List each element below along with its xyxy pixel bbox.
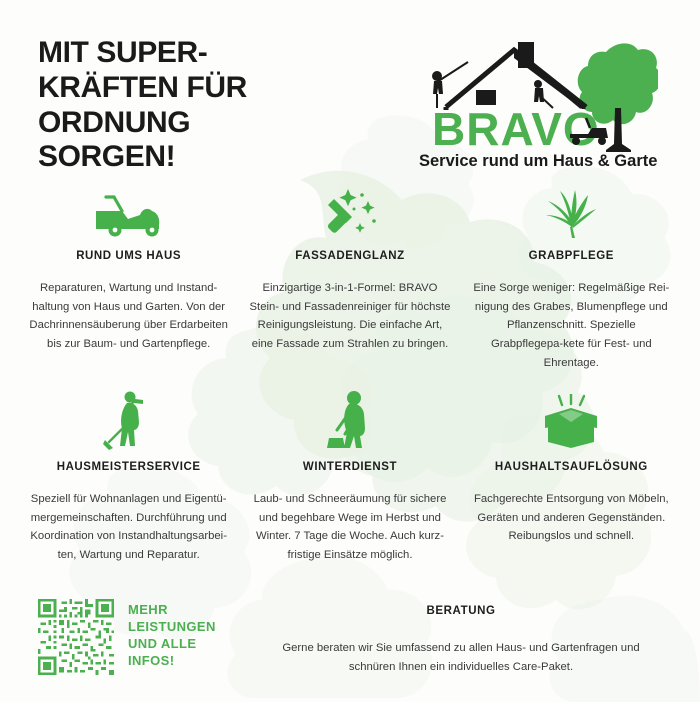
service-body: Speziell für Wohnanlagen und Eigentü-mer… (28, 490, 229, 565)
beratung-title: BERATUNG (268, 605, 654, 617)
service-card-fassadenglanz: FASSADENGLANZ Einzigartige 3-in-1-Formel… (239, 183, 460, 372)
service-title: HAUSMEISTERSERVICE (57, 461, 201, 473)
squeegee-sparkle-icon (318, 183, 382, 239)
service-title: RUND UMS HAUS (76, 250, 181, 262)
service-body: Eine Sorge weniger: Regelmäßige Rei-nigu… (471, 279, 672, 372)
flyer-page: MIT SUPER- KRÄFTEN FÜR ORDNUNG SORGEN! (0, 0, 700, 702)
palm-leaf-icon (542, 183, 600, 239)
service-title: GRABPFLEGE (529, 250, 614, 262)
bravo-logo: BRAVO Service rund um Haus & Garten (410, 32, 658, 170)
qr-label: MEHR LEISTUNGEN UND ALLE INFOS! (128, 599, 216, 670)
service-body: Fachgerechte Entsorgung von Möbeln, Gerä… (471, 490, 672, 546)
service-title: HAUSHALTSAUFLÖSUNG (495, 461, 648, 473)
service-card-hausmeisterservice: HAUSMEISTERSERVICE Speziell für Wohnanla… (18, 390, 239, 565)
chimney-icon (518, 42, 534, 68)
service-card-haushaltsaufloesung: HAUSHALTSAUFLÖSUNG Fachgerechte Entsorgu… (461, 390, 682, 565)
qr-code-icon[interactable] (38, 599, 114, 675)
service-body: Laub- und Schneeräumung für sichere und … (249, 490, 450, 565)
services-grid-row-1: RUND UMS HAUS Reparaturen, Wartung und I… (0, 175, 700, 372)
service-body: Einzigartige 3-in-1-Formel: BRAVO Stein-… (249, 279, 450, 354)
open-box-icon (539, 390, 603, 450)
beratung-body: Gerne beraten wir Sie umfassend zu allen… (268, 639, 654, 677)
page-headline: MIT SUPER- KRÄFTEN FÜR ORDNUNG SORGEN! (38, 36, 247, 175)
brand-wordmark: BRAVO (432, 103, 600, 155)
services-grid-row-2: HAUSMEISTERSERVICE Speziell für Wohnanla… (0, 382, 700, 565)
service-body: Reparaturen, Wartung und Instand-haltung… (28, 279, 229, 354)
service-card-rund-ums-haus: RUND UMS HAUS Reparaturen, Wartung und I… (18, 183, 239, 372)
service-card-grabpflege: GRABPFLEGE Eine Sorge weniger: Regelmäßi… (461, 183, 682, 372)
lawn-mower-icon (92, 183, 166, 239)
beratung-block: BERATUNG Gerne beraten wir Sie umfassend… (268, 591, 670, 677)
header: MIT SUPER- KRÄFTEN FÜR ORDNUNG SORGEN! (0, 0, 700, 175)
person-sweeping-icon (103, 390, 155, 450)
bravo-logo-graphic: BRAVO Service rund um Haus & Garten (410, 32, 658, 170)
qr-block[interactable]: MEHR LEISTUNGEN UND ALLE INFOS! (38, 591, 268, 675)
service-card-winterdienst: WINTERDIENST Laub- und Schneeräumung für… (239, 390, 460, 565)
person-shoveling-snow-icon (323, 390, 377, 450)
bottom-section: MEHR LEISTUNGEN UND ALLE INFOS! BERATUNG… (0, 565, 700, 677)
service-title: FASSADENGLANZ (295, 250, 404, 262)
logo-tagline: Service rund um Haus & Garten (419, 152, 658, 170)
service-title: WINTERDIENST (303, 461, 397, 473)
